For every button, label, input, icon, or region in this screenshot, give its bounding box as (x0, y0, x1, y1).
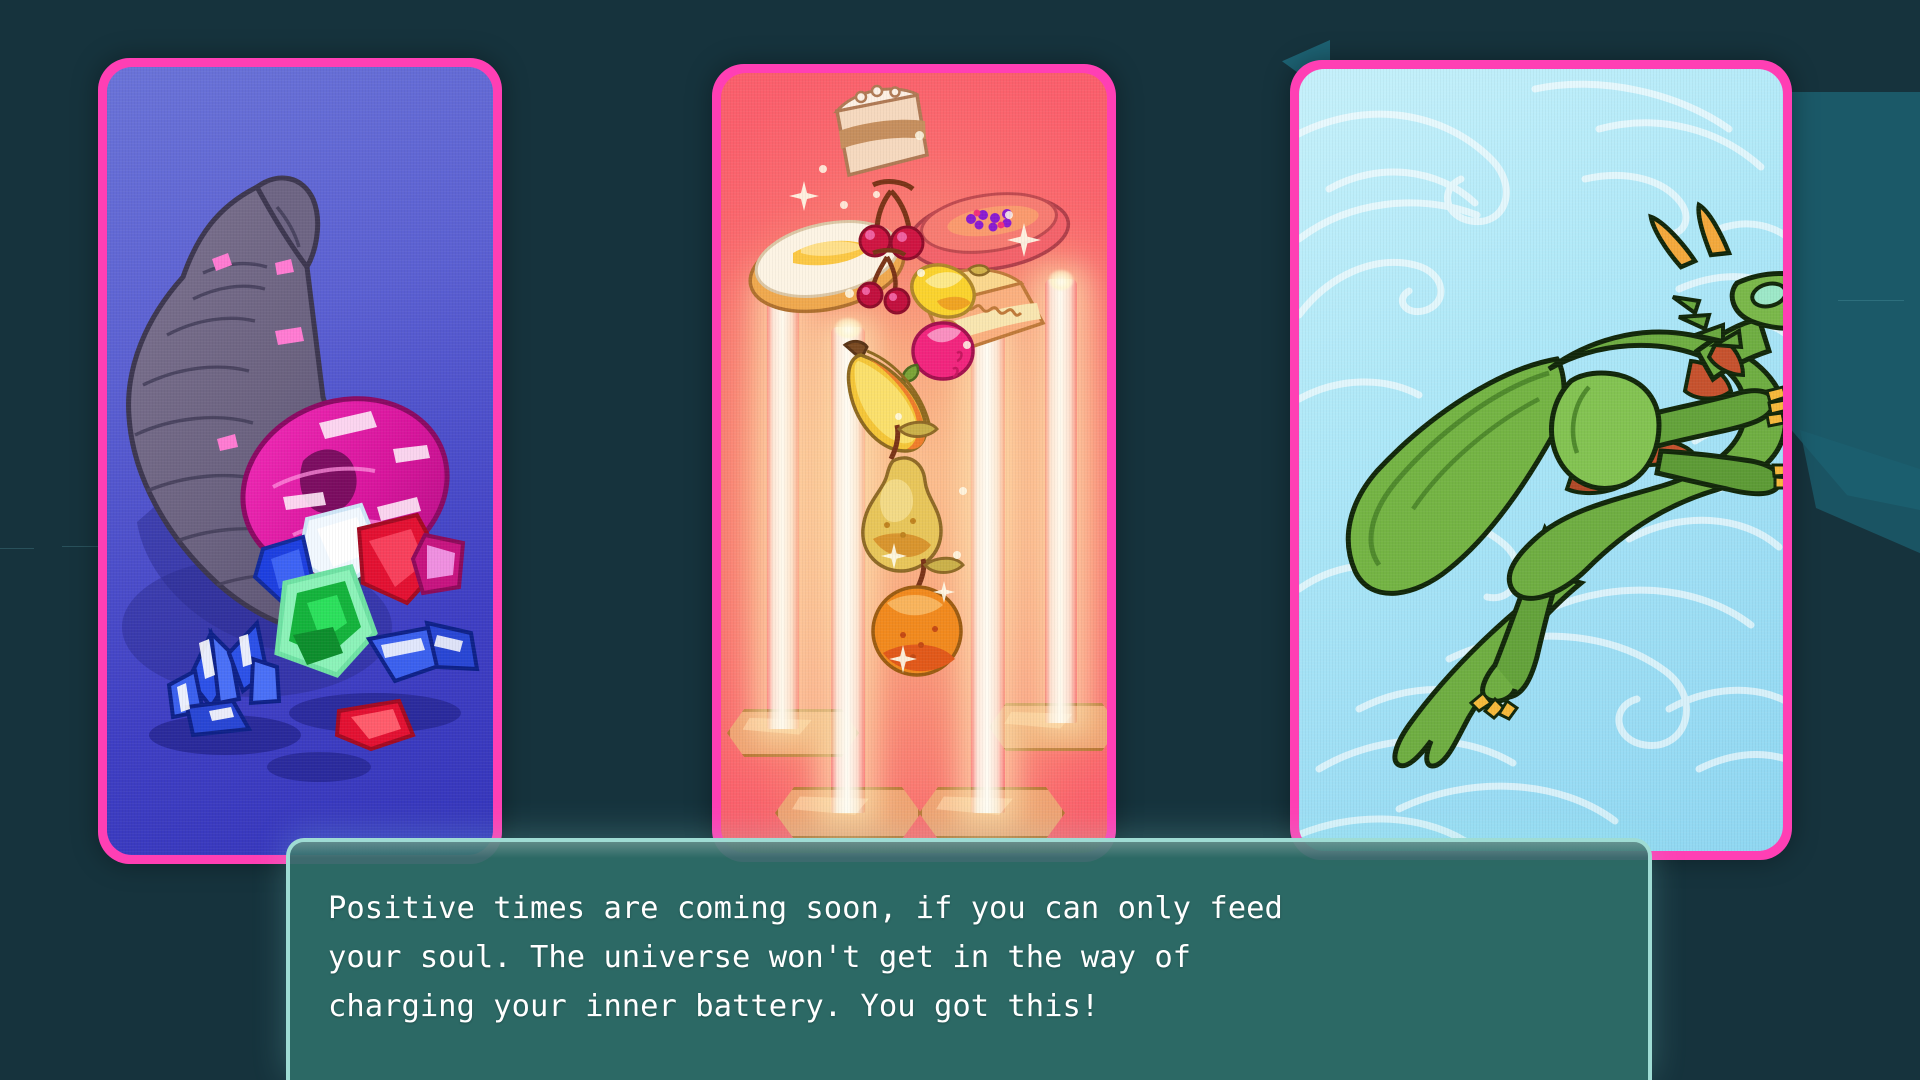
dragon-body (1348, 205, 1783, 766)
sparkle-dot (963, 341, 971, 349)
fortune-dialogue-text: Positive times are coming soon, if you c… (328, 884, 1610, 1031)
floating-food-illustration (721, 73, 1107, 853)
dragon-illustration (1299, 69, 1783, 851)
orange (873, 558, 963, 675)
sparkle-dot (845, 289, 854, 298)
tarot-card-candles-art (721, 73, 1107, 853)
tarot-card-gems[interactable] (98, 58, 502, 864)
sparkle-dot (917, 269, 925, 277)
sparkle-dot (1005, 211, 1013, 219)
scene-root: Positive times are coming soon, if you c… (0, 0, 1920, 1080)
sparkle-dot (873, 191, 880, 198)
cherries (860, 182, 923, 259)
sparkle-dot (819, 165, 827, 173)
tarot-card-dragon[interactable] (1290, 60, 1792, 860)
sparkle-dot (953, 551, 961, 559)
fortune-dialogue-box[interactable]: Positive times are coming soon, if you c… (286, 838, 1652, 1080)
background-line (1838, 300, 1904, 301)
cake-slice (837, 86, 927, 175)
sparkle-dot (840, 201, 848, 209)
cornucopia-gems-illustration (107, 67, 493, 855)
sparkle-dot (959, 487, 967, 495)
background-line (0, 548, 34, 549)
tarot-card-dragon-art (1299, 69, 1783, 851)
sparkle-dot (915, 131, 924, 140)
tarot-card-candles[interactable] (712, 64, 1116, 862)
tarot-card-gems-art (107, 67, 493, 855)
peach (903, 323, 973, 381)
sparkle-dot (895, 413, 902, 420)
